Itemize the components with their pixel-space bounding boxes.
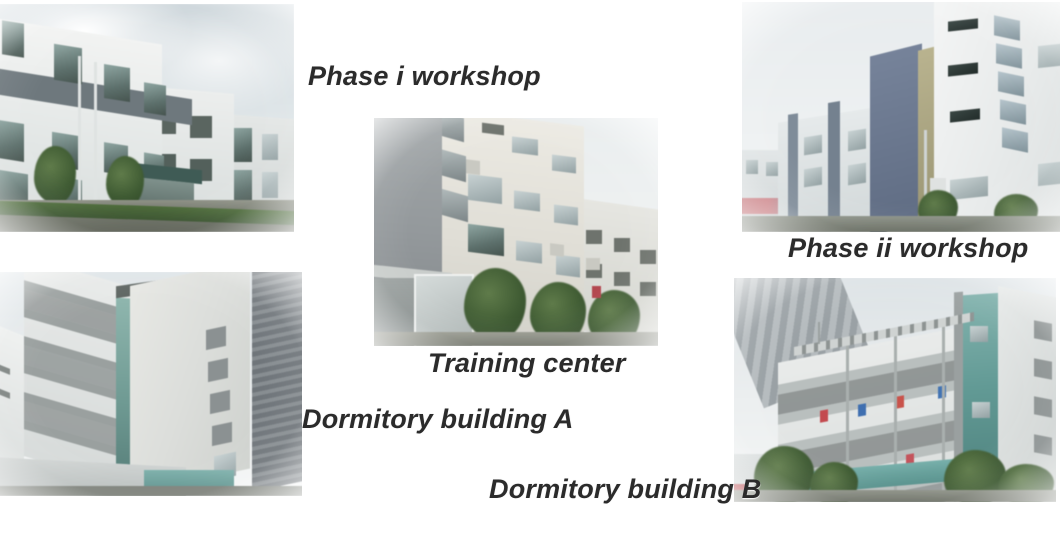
window: [232, 128, 252, 162]
window: [640, 250, 656, 264]
caption-training-center: Training center: [428, 348, 626, 379]
window: [970, 326, 988, 342]
photo-scene-dormitory-a: [0, 272, 302, 496]
photo-scene-training-center: [374, 118, 658, 346]
caption-phase-i-workshop: Phase i workshop: [308, 61, 541, 92]
tree: [34, 146, 76, 204]
window: [206, 326, 226, 350]
ground: [742, 216, 1060, 232]
window: [1034, 434, 1052, 455]
window: [614, 238, 630, 252]
window: [210, 390, 230, 414]
window: [0, 120, 24, 162]
window: [2, 20, 24, 57]
window: [766, 162, 778, 176]
window: [804, 135, 822, 156]
tree: [464, 268, 526, 340]
window: [262, 172, 278, 198]
photo-dormitory-building-a: [0, 272, 302, 496]
window: [1038, 42, 1060, 68]
window: [950, 176, 988, 200]
photo-scene-dormitory-b: [734, 278, 1056, 502]
window: [1034, 320, 1052, 341]
window: [208, 358, 228, 382]
ground: [0, 486, 302, 496]
window: [516, 240, 542, 263]
caption-dormitory-building-b: Dormitory building B: [489, 474, 761, 505]
window: [468, 174, 502, 204]
photo-phase-i-workshop: [0, 4, 294, 232]
ac-unit: [586, 258, 600, 270]
window: [848, 129, 866, 152]
photo-scene-phase-ii: [742, 2, 1060, 232]
window: [104, 64, 130, 102]
vertical-accent-panel: [788, 113, 798, 227]
ground: [734, 490, 1056, 502]
hanging-laundry: [896, 395, 904, 409]
caption-phase-ii-workshop: Phase ii workshop: [788, 233, 1028, 264]
caption-dormitory-building-a: Dormitory building A: [302, 404, 573, 435]
window: [804, 167, 822, 188]
vertical-accent-panel: [828, 101, 840, 223]
signage: [592, 286, 601, 298]
window: [614, 272, 630, 286]
photo-phase-ii-workshop: [742, 2, 1060, 232]
hanging-laundry: [858, 403, 866, 417]
window: [468, 224, 504, 256]
window: [554, 205, 578, 226]
window: [512, 136, 538, 155]
window: [262, 134, 278, 160]
flag-pole: [78, 56, 81, 206]
photo-scene-phase-i: [0, 4, 294, 232]
window: [212, 422, 232, 446]
window: [848, 163, 866, 186]
ac-unit: [550, 243, 564, 257]
window: [746, 160, 758, 174]
window: [586, 230, 602, 244]
background-tower: [252, 272, 302, 492]
antenna: [818, 322, 820, 344]
window: [640, 282, 656, 296]
facade-grey-panel: [374, 118, 442, 284]
building-side-wall: [870, 44, 922, 232]
window: [972, 402, 990, 418]
window: [514, 190, 540, 211]
photo-training-center: [374, 118, 658, 346]
window: [1038, 160, 1060, 186]
hanging-laundry: [820, 409, 828, 423]
ac-unit: [464, 159, 480, 175]
window: [144, 82, 166, 115]
window: [190, 116, 212, 138]
photo-dormitory-building-b: [734, 278, 1056, 502]
window: [1034, 358, 1052, 379]
ground: [374, 332, 658, 346]
flag-pole: [94, 62, 97, 208]
window: [552, 155, 576, 174]
window: [556, 255, 580, 278]
window: [1034, 396, 1052, 417]
stair-glazing-strip: [116, 298, 130, 489]
window: [232, 170, 252, 204]
